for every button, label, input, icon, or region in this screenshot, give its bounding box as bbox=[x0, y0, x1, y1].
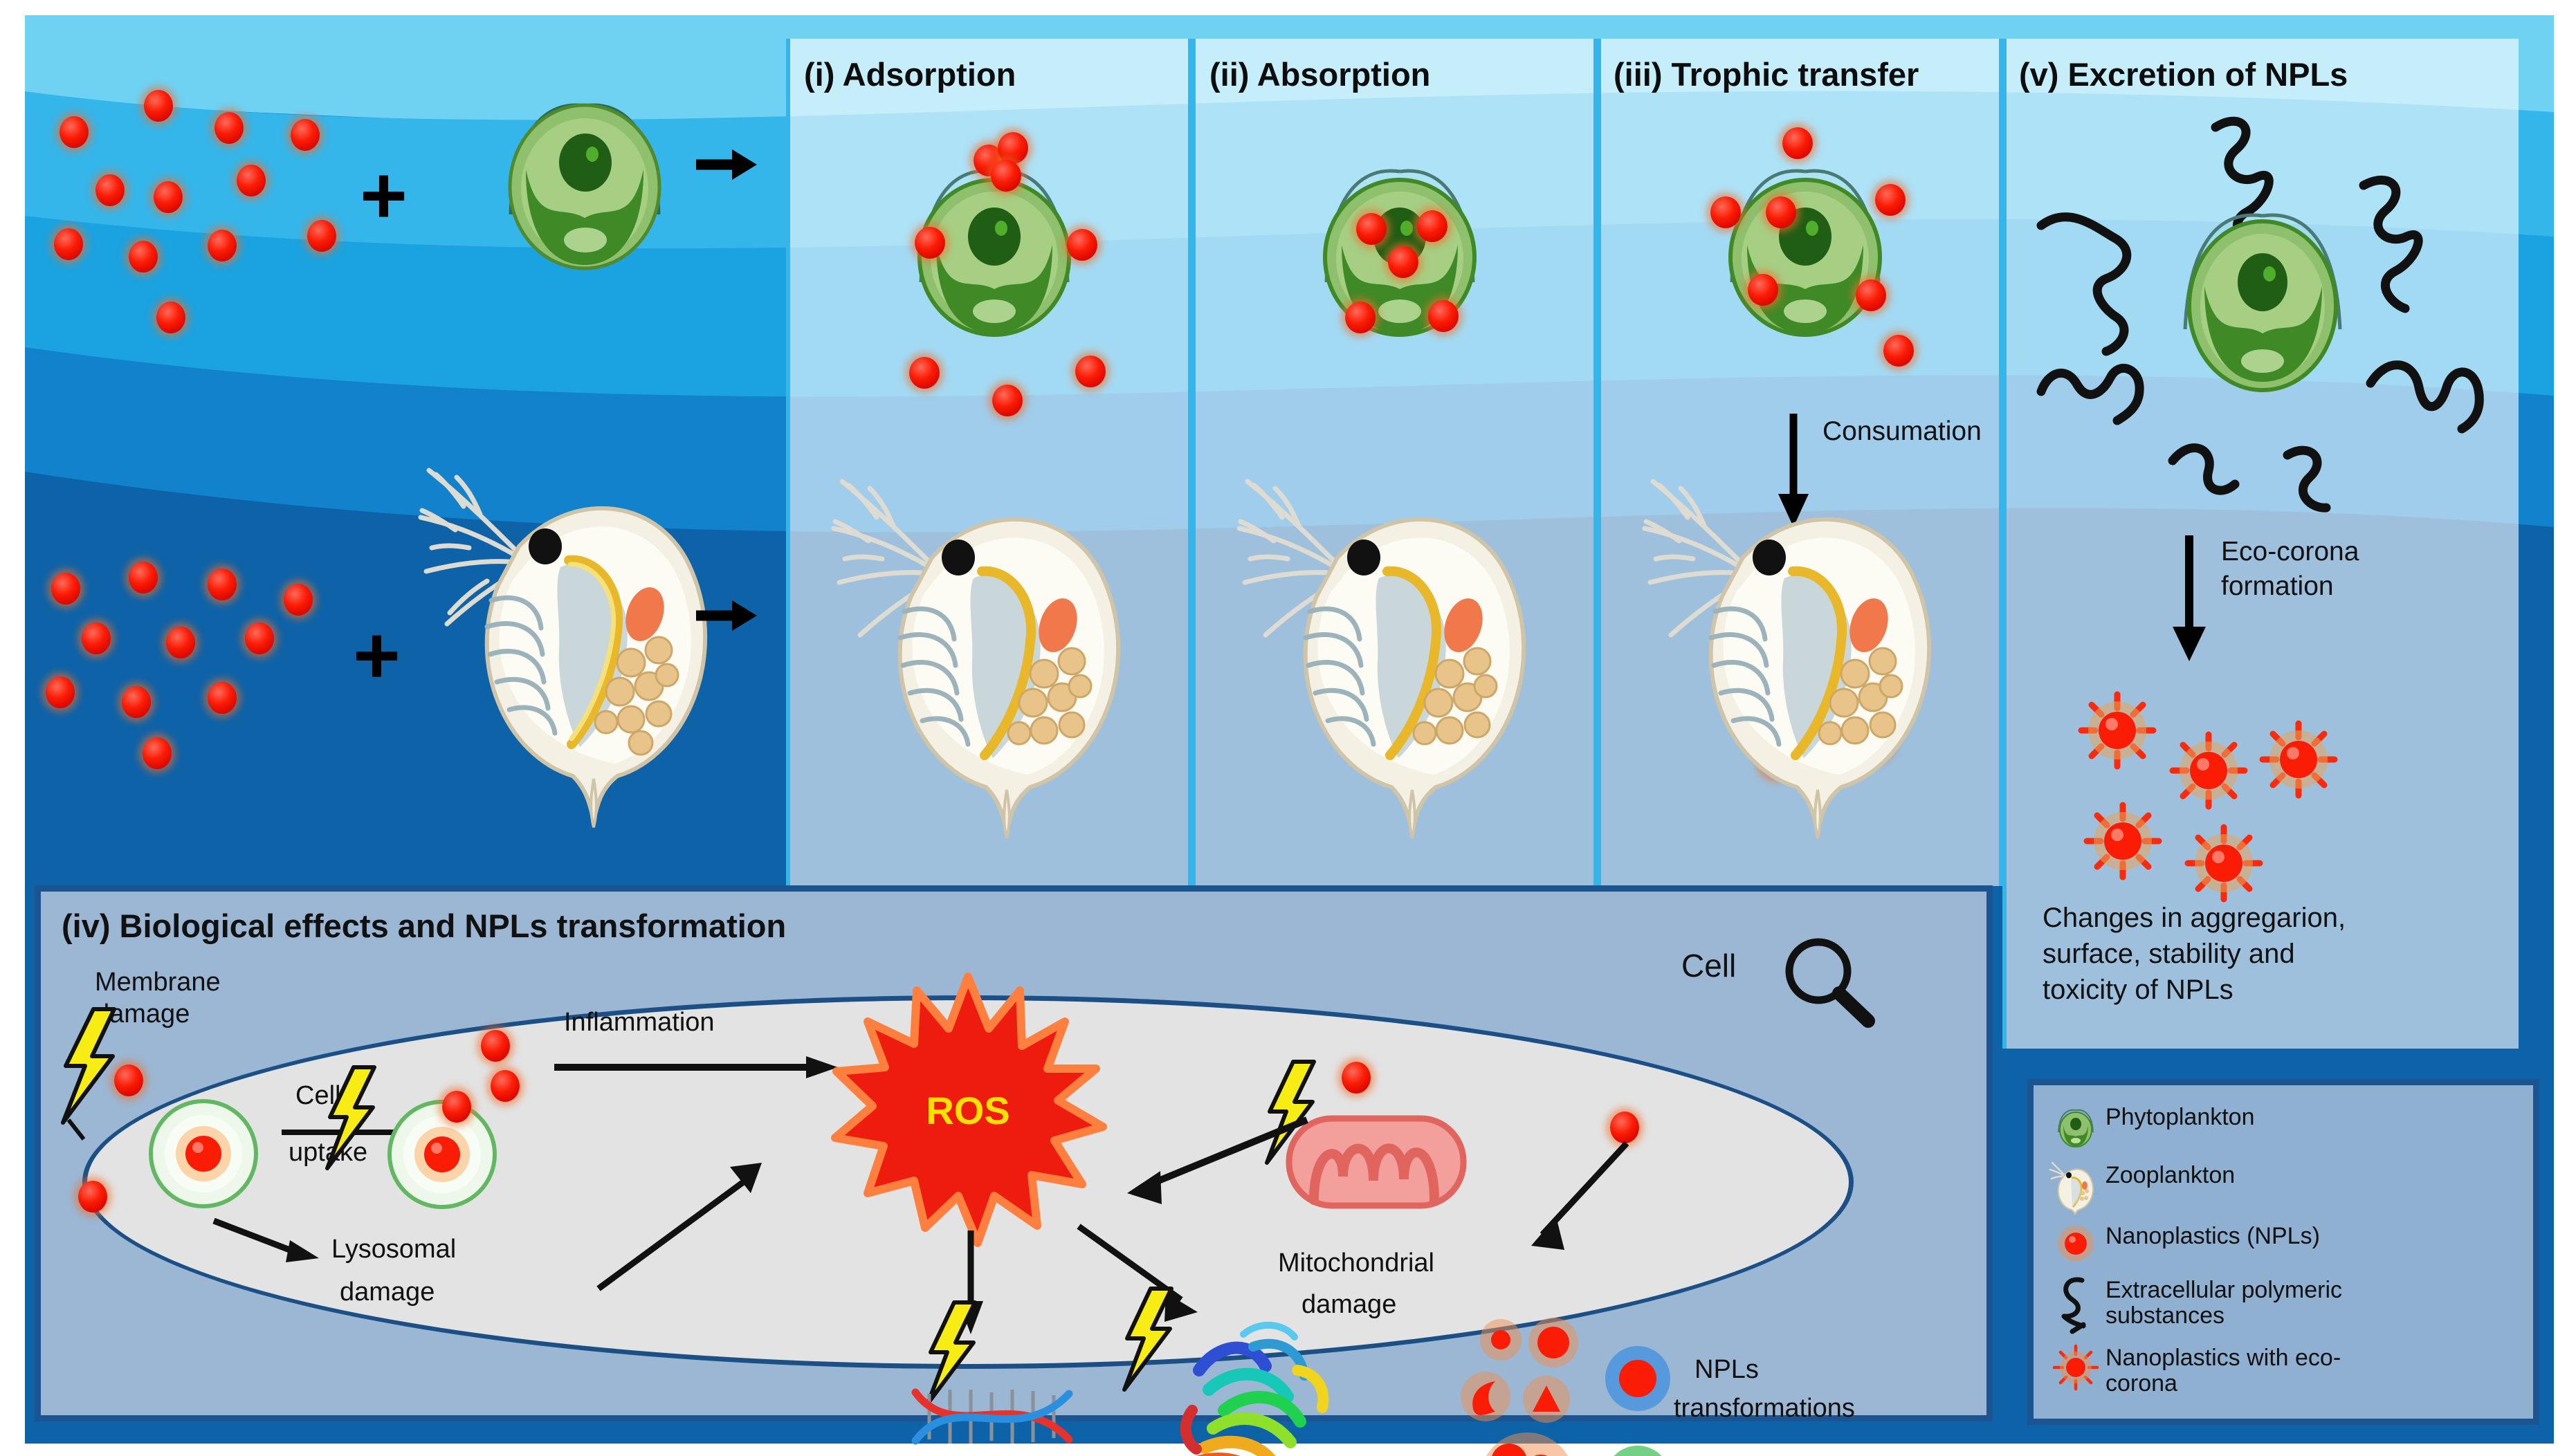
arrow-right-bottom bbox=[693, 596, 760, 635]
ecocorona-icon bbox=[2046, 1341, 2105, 1394]
mitochondrial-damage-label-l1: Mitochondrial bbox=[1278, 1250, 1434, 1278]
zooplankton-adsorption bbox=[828, 454, 1174, 841]
phytoplankton-excretion bbox=[2185, 215, 2340, 390]
zooplankton-daphnia bbox=[415, 443, 782, 830]
ecocorona-icon bbox=[2173, 735, 2245, 807]
eps-and-algae bbox=[2013, 101, 2512, 516]
arrow-lysosome-to-ros bbox=[594, 1148, 802, 1300]
cell-magnifier-label: Cell bbox=[1681, 949, 1736, 982]
ecocorona-caption-line2: surface, stability and bbox=[2043, 939, 2295, 968]
ros-label: ROS bbox=[926, 1089, 1010, 1132]
legend-item-ecocorona: Nanoplastics with eco- corona bbox=[2046, 1341, 2521, 1396]
legend-label-nanoplastics: Nanoplastics (NPLs) bbox=[2105, 1219, 2320, 1249]
plus-sign-top: + bbox=[360, 149, 408, 243]
legend-label-zooplankton: Zooplankton bbox=[2105, 1159, 2235, 1188]
ecocorona-caption-line1: Changes in aggregarion, bbox=[2043, 903, 2346, 932]
legend-item-zooplankton: Zooplankton bbox=[2046, 1159, 2521, 1214]
zooplankton-trophic bbox=[1639, 454, 1985, 841]
ecocorona-label-line2: formation bbox=[2221, 573, 2334, 601]
legend-label-eps: Extracellular polymeric substances Extra… bbox=[2105, 1273, 2342, 1328]
legend-label-phytoplankton: Phytoplankton bbox=[2105, 1100, 2255, 1130]
panel-title-absorption: (ii) Absorption bbox=[1209, 55, 1607, 93]
magnifier-icon bbox=[1778, 934, 1882, 1031]
consumation-label: Consumation bbox=[1823, 418, 1982, 446]
npl-membrane-2 bbox=[78, 1181, 107, 1213]
panel-title-adsorption: (i) Adsorption bbox=[804, 55, 1202, 93]
legend-label-ecocorona-line2: corona bbox=[2105, 1370, 2177, 1397]
npls-transformations-label-l1: NPLs bbox=[1694, 1356, 1759, 1384]
protein-ribbon-icon bbox=[1169, 1307, 1376, 1456]
arrow-incoming-npl bbox=[1519, 1139, 1643, 1278]
npl-inflam-3 bbox=[442, 1091, 471, 1123]
ecocorona-icon bbox=[2188, 827, 2260, 899]
legend-label-ecocorona: Nanoplastics with eco- corona bbox=[2105, 1341, 2341, 1396]
ecocorona-icon bbox=[2263, 724, 2335, 795]
ecocorona-icon bbox=[2087, 805, 2159, 877]
phytoplankton-absorption bbox=[1268, 129, 1531, 357]
lightning-bolt-icon bbox=[1115, 1286, 1191, 1403]
legend-label-eps-line1: Extracellular polymeric bbox=[2105, 1277, 2342, 1303]
panel-absorption: (ii) Absorption bbox=[1191, 39, 1598, 886]
eps-squiggle-icon bbox=[2046, 1273, 2105, 1336]
ecocorona-particles bbox=[2048, 682, 2436, 890]
ros-burst: ROS bbox=[823, 973, 1113, 1264]
legend-item-eps: Extracellular polymeric substances Extra… bbox=[2046, 1273, 2521, 1336]
lysosomal-damage-label-l1: Lysosomal bbox=[331, 1236, 456, 1264]
npl-inflam-2 bbox=[491, 1070, 520, 1102]
lysosomal-damage-label-l2: damage bbox=[340, 1279, 435, 1307]
npl-mitochondrion bbox=[1342, 1062, 1371, 1094]
phytoplankton-icon bbox=[2046, 1100, 2105, 1153]
arrow-mito-to-ros bbox=[1112, 1113, 1313, 1210]
legend-label-eps-line2: substances bbox=[2105, 1302, 2225, 1329]
legend: Phytoplankton Zooplankton bbox=[2027, 1079, 2539, 1425]
panel-title-biological-effects: (iv) Biological effects and NPLs transfo… bbox=[62, 907, 786, 945]
membrane-damage-label-l1: Membrane bbox=[95, 969, 221, 997]
phytoplankton-top bbox=[457, 66, 713, 280]
nanoplastic-icon bbox=[2046, 1219, 2105, 1268]
panel-title-excretion: (v) Excretion of NPLs bbox=[2019, 55, 2531, 93]
npl-inflam-1 bbox=[481, 1030, 510, 1062]
legend-item-nanoplastics: Nanoplastics (NPLs) bbox=[2046, 1219, 2521, 1268]
zooplankton-icon bbox=[2046, 1159, 2105, 1214]
zooplankton-absorption bbox=[1234, 454, 1580, 841]
inflammation-label: Inflammation bbox=[564, 1009, 715, 1037]
vesicle-with-npl-1 bbox=[138, 1088, 269, 1219]
legend-label-ecocorona-line1: Nanoplastics with eco- bbox=[2105, 1345, 2341, 1371]
ecocorona-icon bbox=[2081, 694, 2153, 766]
panel-excretion: (v) Excretion of NPLs bbox=[2002, 39, 2519, 1049]
inflammation-arrow bbox=[554, 1055, 845, 1082]
phytoplankton-trophic bbox=[1674, 129, 1937, 357]
panel-trophic-transfer: (iii) Trophic transfer bbox=[1597, 39, 2003, 886]
plus-sign-bottom: + bbox=[353, 609, 401, 703]
lightning-bolt-icon bbox=[318, 1065, 394, 1182]
ecocorona-arrow bbox=[2170, 535, 2211, 667]
npl-transformations-cluster bbox=[1452, 1315, 1812, 1456]
legend-item-phytoplankton: Phytoplankton bbox=[2046, 1100, 2521, 1153]
panel-adsorption: (i) Adsorption bbox=[786, 39, 1192, 886]
source-area: + + bbox=[0, 0, 782, 830]
npls-transformations-label-l2: transformations bbox=[1674, 1395, 1855, 1423]
mitochondrial-damage-label-l2: damage bbox=[1301, 1291, 1396, 1319]
figure-root: + + bbox=[0, 0, 2567, 1456]
panel-title-trophic-transfer: (iii) Trophic transfer bbox=[1614, 55, 2011, 93]
arrow-right-top bbox=[693, 145, 760, 184]
dna-helix-icon bbox=[899, 1376, 1093, 1456]
ecocorona-label-line1: Eco-corona bbox=[2221, 538, 2359, 566]
ecocorona-caption-line3: toxicity of NPLs bbox=[2043, 975, 2233, 1004]
